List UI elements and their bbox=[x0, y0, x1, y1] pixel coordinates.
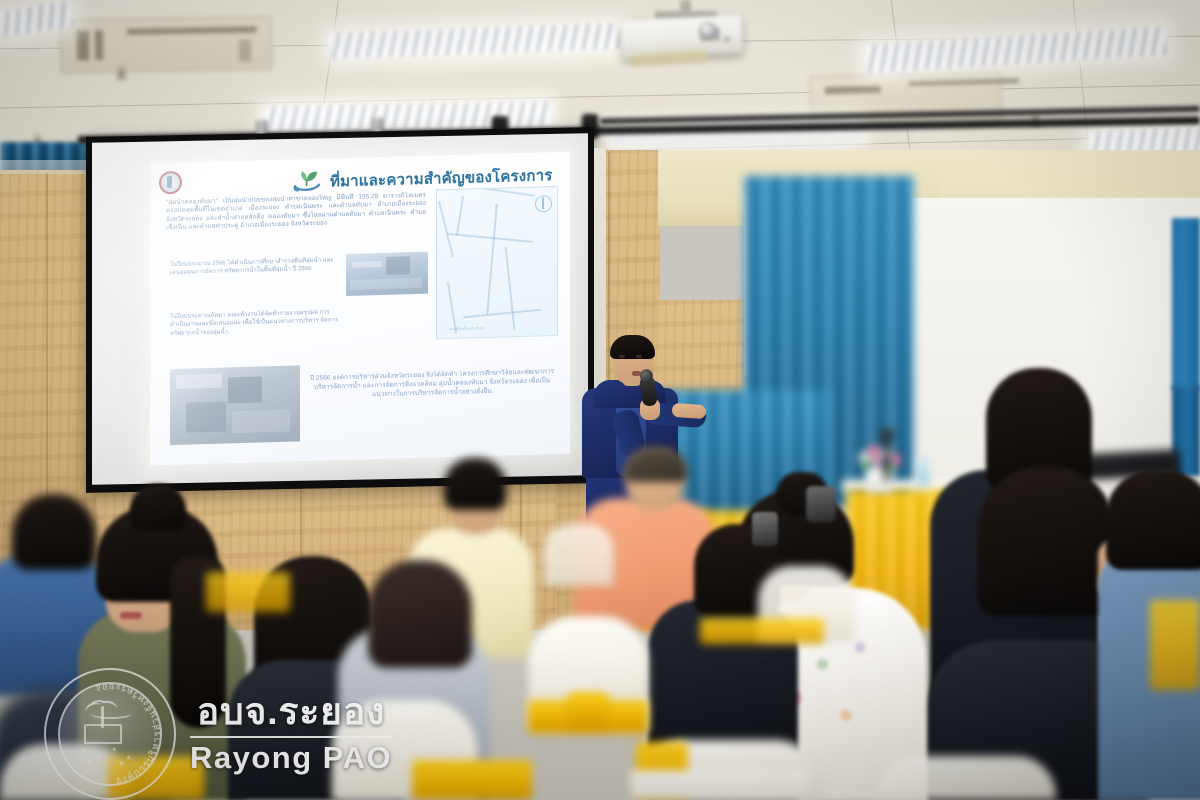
chair-gold-sash bbox=[206, 572, 290, 612]
upper-wall-band bbox=[0, 160, 96, 174]
attendee-lips bbox=[120, 612, 142, 619]
presenter-eye bbox=[619, 355, 625, 358]
slide-body-paragraph: "ลุ่มน้ำคลองทับมา" เป็นลุ่มน้ำย่อยของลุ่… bbox=[166, 192, 426, 255]
chair-with-cover bbox=[544, 524, 614, 586]
slide-bottom-text: ปี 2566 องค์การบริหารส่วนจังหวัดระยอง จึ… bbox=[308, 368, 556, 429]
chair-gold-sash bbox=[1150, 600, 1200, 690]
hair-clip bbox=[752, 512, 778, 546]
table-microphone bbox=[884, 436, 889, 480]
presentation-slide: ที่มาและความสำคัญของโครงการ "ลุ่มน้ำคลอง… bbox=[150, 152, 570, 466]
fire-sprinkler-head bbox=[118, 65, 125, 77]
slide-photo-field-survey bbox=[170, 365, 300, 445]
flower-bouquet bbox=[856, 442, 904, 472]
hair-clip bbox=[806, 486, 836, 522]
chair-with-cover bbox=[876, 756, 1056, 800]
chair-gold-sash bbox=[700, 618, 824, 644]
organization-logo bbox=[159, 171, 182, 195]
presenter-hair bbox=[610, 335, 655, 359]
map-compass-label: N bbox=[495, 203, 498, 208]
ceiling-air-vent bbox=[60, 16, 273, 74]
map-compass-rose bbox=[535, 195, 552, 212]
chair-gold-sash bbox=[412, 760, 532, 800]
seminar-photograph: ที่มาและความสำคัญของโครงการ "ลุ่มน้ำคลอง… bbox=[0, 0, 1200, 800]
watershed-map: N แผนที่ลุ่มน้ำคลองทับมา bbox=[436, 186, 558, 340]
map-caption: แผนที่ลุ่มน้ำคลองทับมา bbox=[449, 325, 485, 332]
projection-screen[interactable]: ที่มาและความสำคัญของโครงการ "ลุ่มน้ำคลอง… bbox=[86, 127, 594, 493]
water-bottle bbox=[918, 456, 928, 486]
presenter-eye bbox=[636, 355, 642, 358]
presenter-hand bbox=[672, 403, 707, 419]
paper-document bbox=[630, 770, 810, 800]
slide-bullet-2: ในปีงบประมาณถัดมา คณะทำงานได้จัดทำรายงาน… bbox=[170, 308, 342, 365]
slide-photo-watershed bbox=[346, 252, 428, 296]
table-microphone-head bbox=[880, 428, 893, 441]
slide-bullet-1: ในปีงบประมาณ 2566 ได้ดำเนินการศึกษาสำรวจ… bbox=[170, 256, 338, 305]
chair-gold-bow bbox=[566, 692, 610, 728]
chair-gold-sash bbox=[108, 756, 204, 800]
hand-holding-sprout-icon bbox=[292, 169, 322, 194]
blue-wall-column bbox=[1172, 218, 1200, 390]
